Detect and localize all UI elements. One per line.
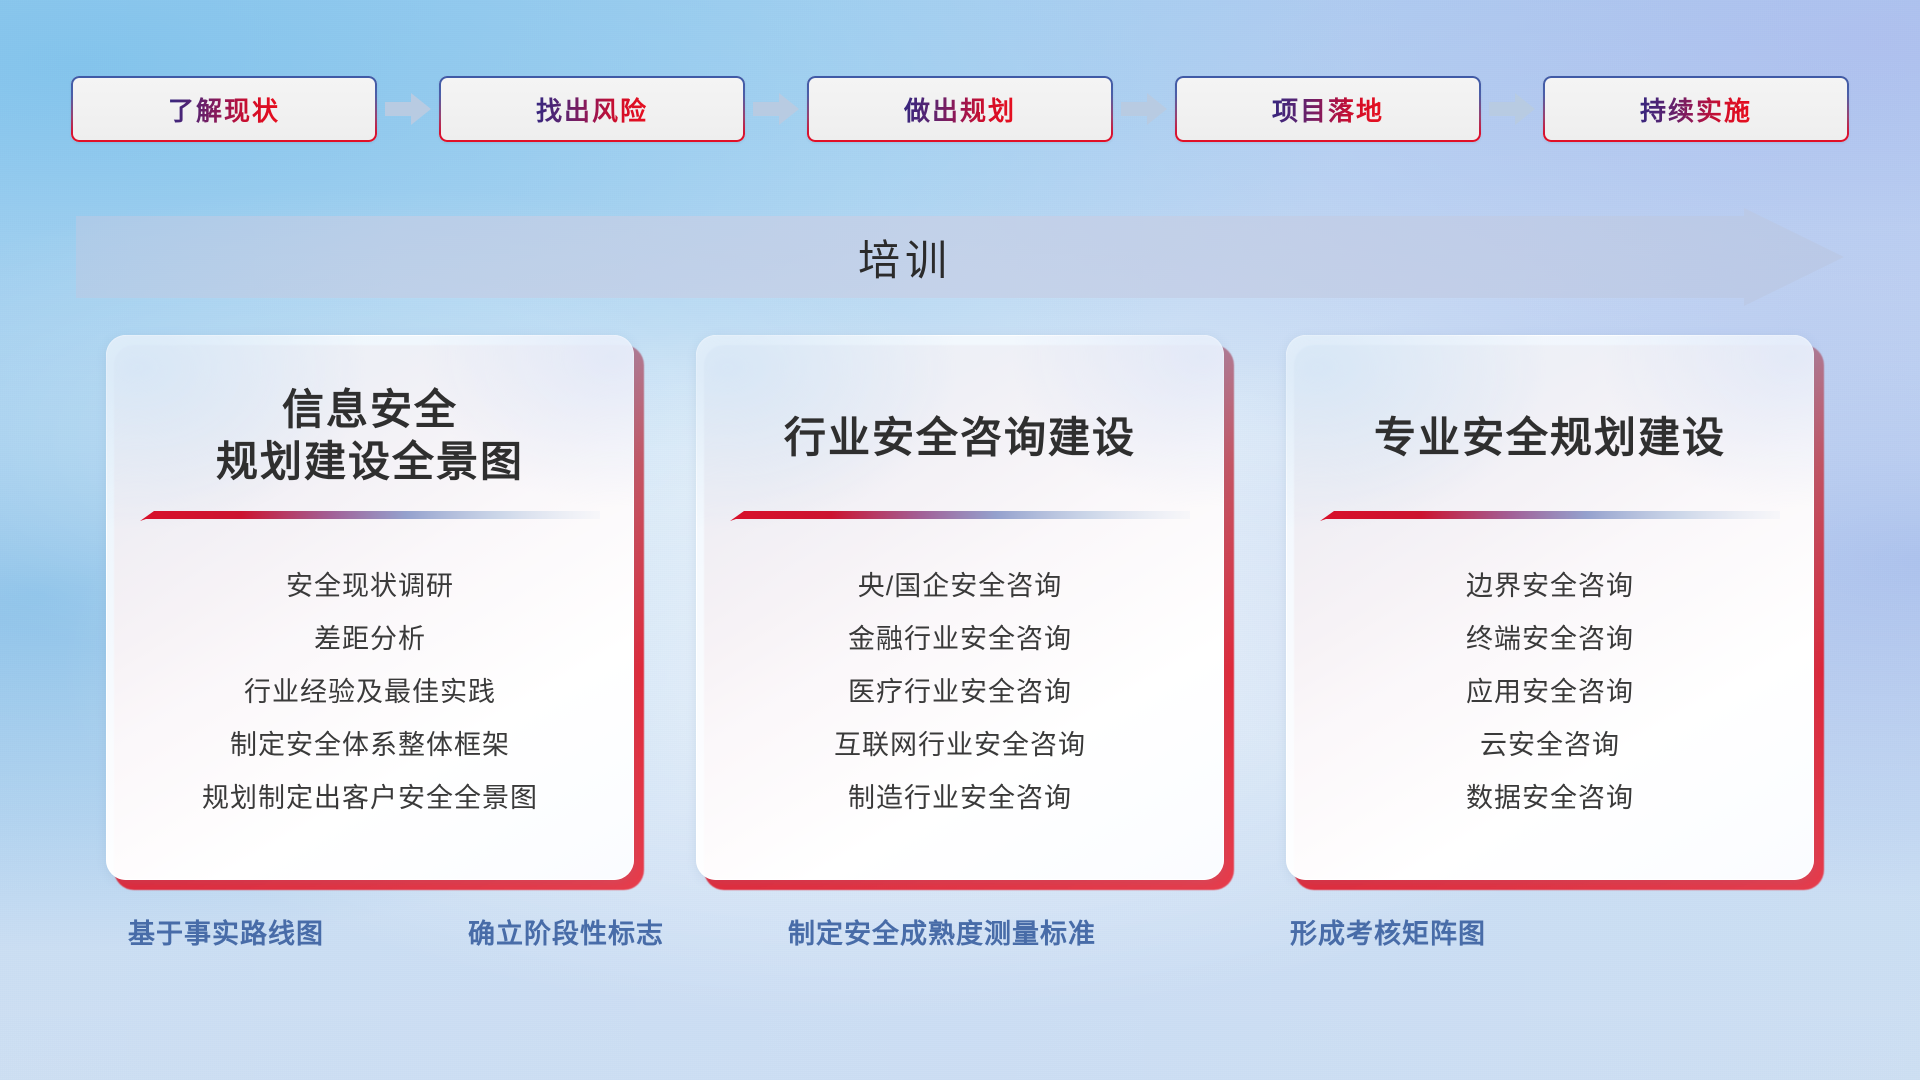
list-item: 央/国企安全咨询 bbox=[696, 573, 1224, 600]
process-step-4[interactable]: 项目落地 bbox=[1175, 76, 1481, 142]
list-item: 终端安全咨询 bbox=[1286, 626, 1814, 653]
card-item-list: 安全现状调研 差距分析 行业经验及最佳实践 制定安全体系整体框架 规划制定出客户… bbox=[106, 573, 634, 812]
card-title-line: 规划建设全景图 bbox=[216, 436, 524, 488]
card-title-slot: 信息安全 规划建设全景图 bbox=[106, 335, 634, 515]
list-item: 边界安全咨询 bbox=[1286, 573, 1814, 600]
right-arrow-icon bbox=[1481, 76, 1543, 142]
process-step-flow: 了解现状 找出风险 做出规划 项目落地 bbox=[0, 76, 1920, 142]
card-1-wrapper: 信息安全 规划建设全景图 bbox=[106, 335, 634, 880]
card-professional-security-planning[interactable]: 专业安全规划建设 bbox=[1286, 335, 1814, 880]
list-item: 应用安全咨询 bbox=[1286, 679, 1814, 706]
footer-label-3: 制定安全成熟度测量标准 bbox=[788, 912, 1096, 951]
list-item: 云安全咨询 bbox=[1286, 732, 1814, 759]
card-title: 信息安全 规划建设全景图 bbox=[198, 384, 542, 488]
card-title: 行业安全咨询建设 bbox=[766, 412, 1154, 464]
footer-label-row: 基于事实路线图 确立阶段性标志 制定安全成熟度测量标准 形成考核矩阵图 bbox=[0, 912, 1920, 962]
process-step-label: 持续实施 bbox=[1640, 91, 1752, 128]
card-item-list: 央/国企安全咨询 金融行业安全咨询 医疗行业安全咨询 互联网行业安全咨询 制造行… bbox=[696, 573, 1224, 812]
card-item-list: 边界安全咨询 终端安全咨询 应用安全咨询 云安全咨询 数据安全咨询 bbox=[1286, 573, 1814, 812]
card-divider bbox=[1320, 507, 1780, 523]
card-title-slot: 行业安全咨询建设 bbox=[696, 335, 1224, 515]
process-step-label: 项目落地 bbox=[1272, 91, 1384, 128]
training-banner: 培训 bbox=[76, 208, 1844, 306]
process-step-1[interactable]: 了解现状 bbox=[71, 76, 377, 142]
card-information-security-blueprint[interactable]: 信息安全 规划建设全景图 bbox=[106, 335, 634, 880]
card-group: 信息安全 规划建设全景图 bbox=[0, 335, 1920, 880]
list-item: 行业经验及最佳实践 bbox=[106, 679, 634, 706]
process-step-label: 做出规划 bbox=[904, 91, 1016, 128]
list-item: 金融行业安全咨询 bbox=[696, 626, 1224, 653]
footer-label-1: 基于事实路线图 bbox=[128, 912, 324, 951]
card-title: 专业安全规划建设 bbox=[1356, 412, 1744, 464]
process-step-label: 了解现状 bbox=[168, 91, 280, 128]
list-item: 制定安全体系整体框架 bbox=[106, 732, 634, 759]
process-step-5[interactable]: 持续实施 bbox=[1543, 76, 1849, 142]
card-2-wrapper: 行业安全咨询建设 bbox=[696, 335, 1224, 880]
card-divider bbox=[730, 507, 1190, 523]
right-arrow-icon bbox=[745, 76, 807, 142]
list-item: 差距分析 bbox=[106, 626, 634, 653]
list-item: 医疗行业安全咨询 bbox=[696, 679, 1224, 706]
footer-label-2: 确立阶段性标志 bbox=[468, 912, 664, 951]
card-3-wrapper: 专业安全规划建设 bbox=[1286, 335, 1814, 880]
banner-title: 培训 bbox=[76, 208, 1844, 306]
list-item: 数据安全咨询 bbox=[1286, 785, 1814, 812]
list-item: 规划制定出客户安全全景图 bbox=[106, 785, 634, 812]
process-step-label: 找出风险 bbox=[536, 91, 648, 128]
list-item: 互联网行业安全咨询 bbox=[696, 732, 1224, 759]
card-title-slot: 专业安全规划建设 bbox=[1286, 335, 1814, 515]
card-industry-security-consulting[interactable]: 行业安全咨询建设 bbox=[696, 335, 1224, 880]
right-arrow-icon bbox=[377, 76, 439, 142]
process-step-2[interactable]: 找出风险 bbox=[439, 76, 745, 142]
footer-label-4: 形成考核矩阵图 bbox=[1290, 912, 1486, 951]
process-step-3[interactable]: 做出规划 bbox=[807, 76, 1113, 142]
list-item: 制造行业安全咨询 bbox=[696, 785, 1224, 812]
list-item: 安全现状调研 bbox=[106, 573, 634, 600]
card-divider bbox=[140, 507, 600, 523]
right-arrow-icon bbox=[1113, 76, 1175, 142]
card-title-line: 信息安全 bbox=[216, 384, 524, 436]
